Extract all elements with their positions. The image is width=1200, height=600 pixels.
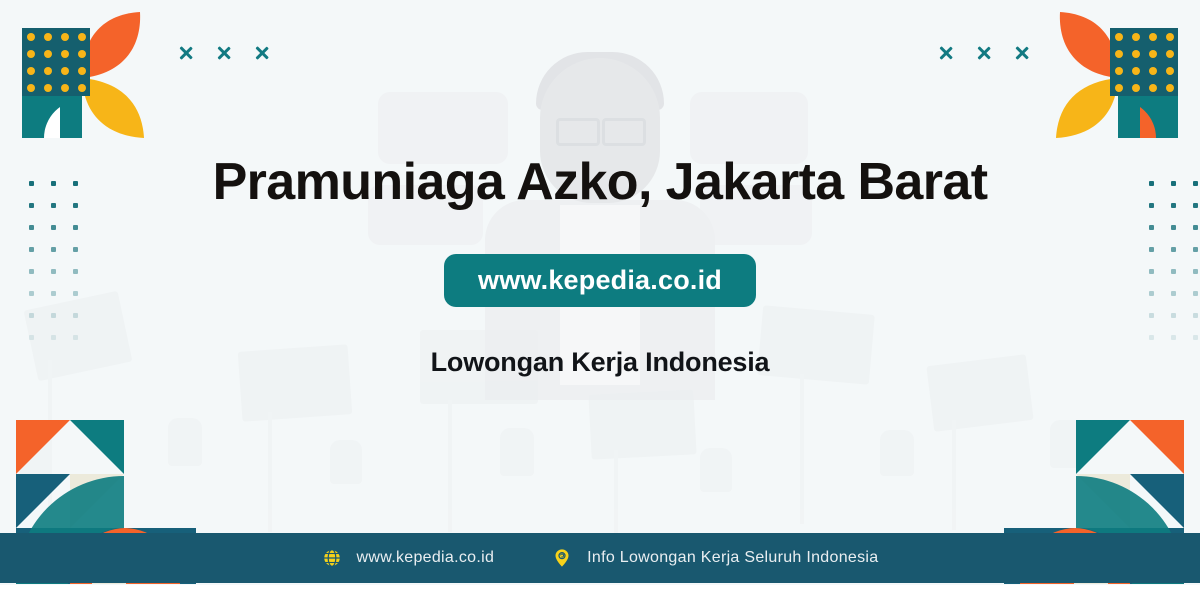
globe-icon: [322, 548, 342, 568]
footer-bar: www.kepedia.co.id Info Lowongan Kerja Se…: [0, 533, 1200, 583]
banner-subtitle: Lowongan Kerja Indonesia: [431, 347, 770, 378]
location-pin-icon: [552, 548, 572, 568]
banner-card: Pramuniaga Azko, Jakarta Barat www.keped…: [0, 0, 1200, 585]
job-vacancy-banner: Pramuniaga Azko, Jakarta Barat www.keped…: [0, 0, 1200, 600]
banner-content: Pramuniaga Azko, Jakarta Barat www.keped…: [0, 0, 1200, 533]
footer-website-label: www.kepedia.co.id: [357, 549, 495, 567]
footer-item-info[interactable]: Info Lowongan Kerja Seluruh Indonesia: [552, 548, 878, 568]
page-title: Pramuniaga Azko, Jakarta Barat: [0, 155, 1200, 210]
bottom-white-margin: [0, 585, 1200, 600]
footer-info-label: Info Lowongan Kerja Seluruh Indonesia: [587, 549, 878, 567]
footer-item-website[interactable]: www.kepedia.co.id: [322, 548, 495, 568]
url-badge[interactable]: www.kepedia.co.id: [444, 254, 756, 307]
